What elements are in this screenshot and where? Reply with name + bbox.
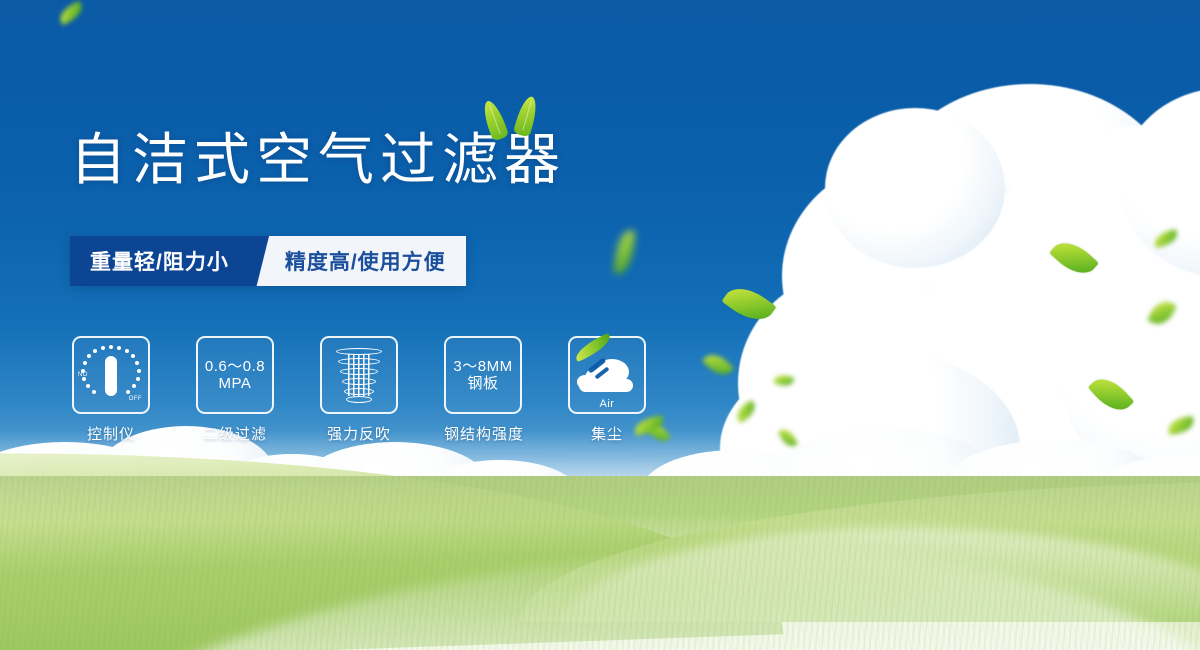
feature-label: 强力反吹 bbox=[320, 423, 398, 444]
grass-field bbox=[0, 476, 1200, 650]
feature-label: 控制仪 bbox=[72, 423, 150, 444]
title-leaf-decoration bbox=[474, 94, 554, 146]
feature-item-two-stage-filter[interactable]: 0.6～0.8 MPA 二级过滤 bbox=[196, 336, 274, 444]
air-label: Air bbox=[577, 398, 637, 410]
subtitle-right-text: 精度高/使用方便 bbox=[277, 236, 466, 286]
gauge-icon: NO OFF bbox=[78, 344, 144, 406]
feature-label: 集尘 bbox=[568, 423, 646, 444]
feature-icon-box: 0.6～0.8 MPA bbox=[196, 336, 274, 414]
feature-label: 钢结构强度 bbox=[444, 423, 522, 444]
subtitle-diagonal-divider bbox=[251, 236, 277, 286]
leaf-icon bbox=[513, 94, 540, 137]
feature-list: NO OFF 控制仪 0.6～0.8 MPA 二级过滤 bbox=[72, 336, 646, 444]
air-cloud-icon: Air bbox=[577, 353, 637, 397]
feature-icon-box: 3～8MM 钢板 bbox=[444, 336, 522, 414]
feature-icon-box: Air bbox=[568, 336, 646, 414]
subtitle-bar: 重量轻/阻力小 精度高/使用方便 bbox=[70, 236, 466, 286]
feature-text-line2: MPA bbox=[219, 375, 252, 392]
feature-icon-box: NO OFF bbox=[72, 336, 150, 414]
leaf-icon bbox=[572, 333, 614, 362]
feature-icon-box bbox=[320, 336, 398, 414]
feature-item-controller[interactable]: NO OFF 控制仪 bbox=[72, 336, 150, 444]
promo-banner: 自洁式空气过滤器 重量轻/阻力小 精度高/使用方便 bbox=[0, 0, 1200, 650]
feature-text-line1: 3～8MM bbox=[453, 358, 512, 375]
gauge-label-no: NO bbox=[78, 372, 88, 378]
gauge-label-off: OFF bbox=[129, 396, 142, 402]
title-block: 自洁式空气过滤器 bbox=[70, 132, 566, 188]
leaf-icon bbox=[480, 98, 510, 141]
subtitle-left-text: 重量轻/阻力小 bbox=[70, 236, 251, 286]
feature-item-back-blow[interactable]: 强力反吹 bbox=[320, 336, 398, 444]
feature-item-steel-strength[interactable]: 3～8MM 钢板 钢结构强度 bbox=[444, 336, 522, 444]
feature-text-line1: 0.6～0.8 bbox=[205, 358, 265, 375]
coil-icon bbox=[332, 346, 386, 404]
feature-text-line2: 钢板 bbox=[467, 375, 498, 392]
gauge-needle bbox=[105, 356, 117, 396]
feature-label: 二级过滤 bbox=[196, 423, 274, 444]
grass-texture bbox=[0, 476, 1200, 650]
